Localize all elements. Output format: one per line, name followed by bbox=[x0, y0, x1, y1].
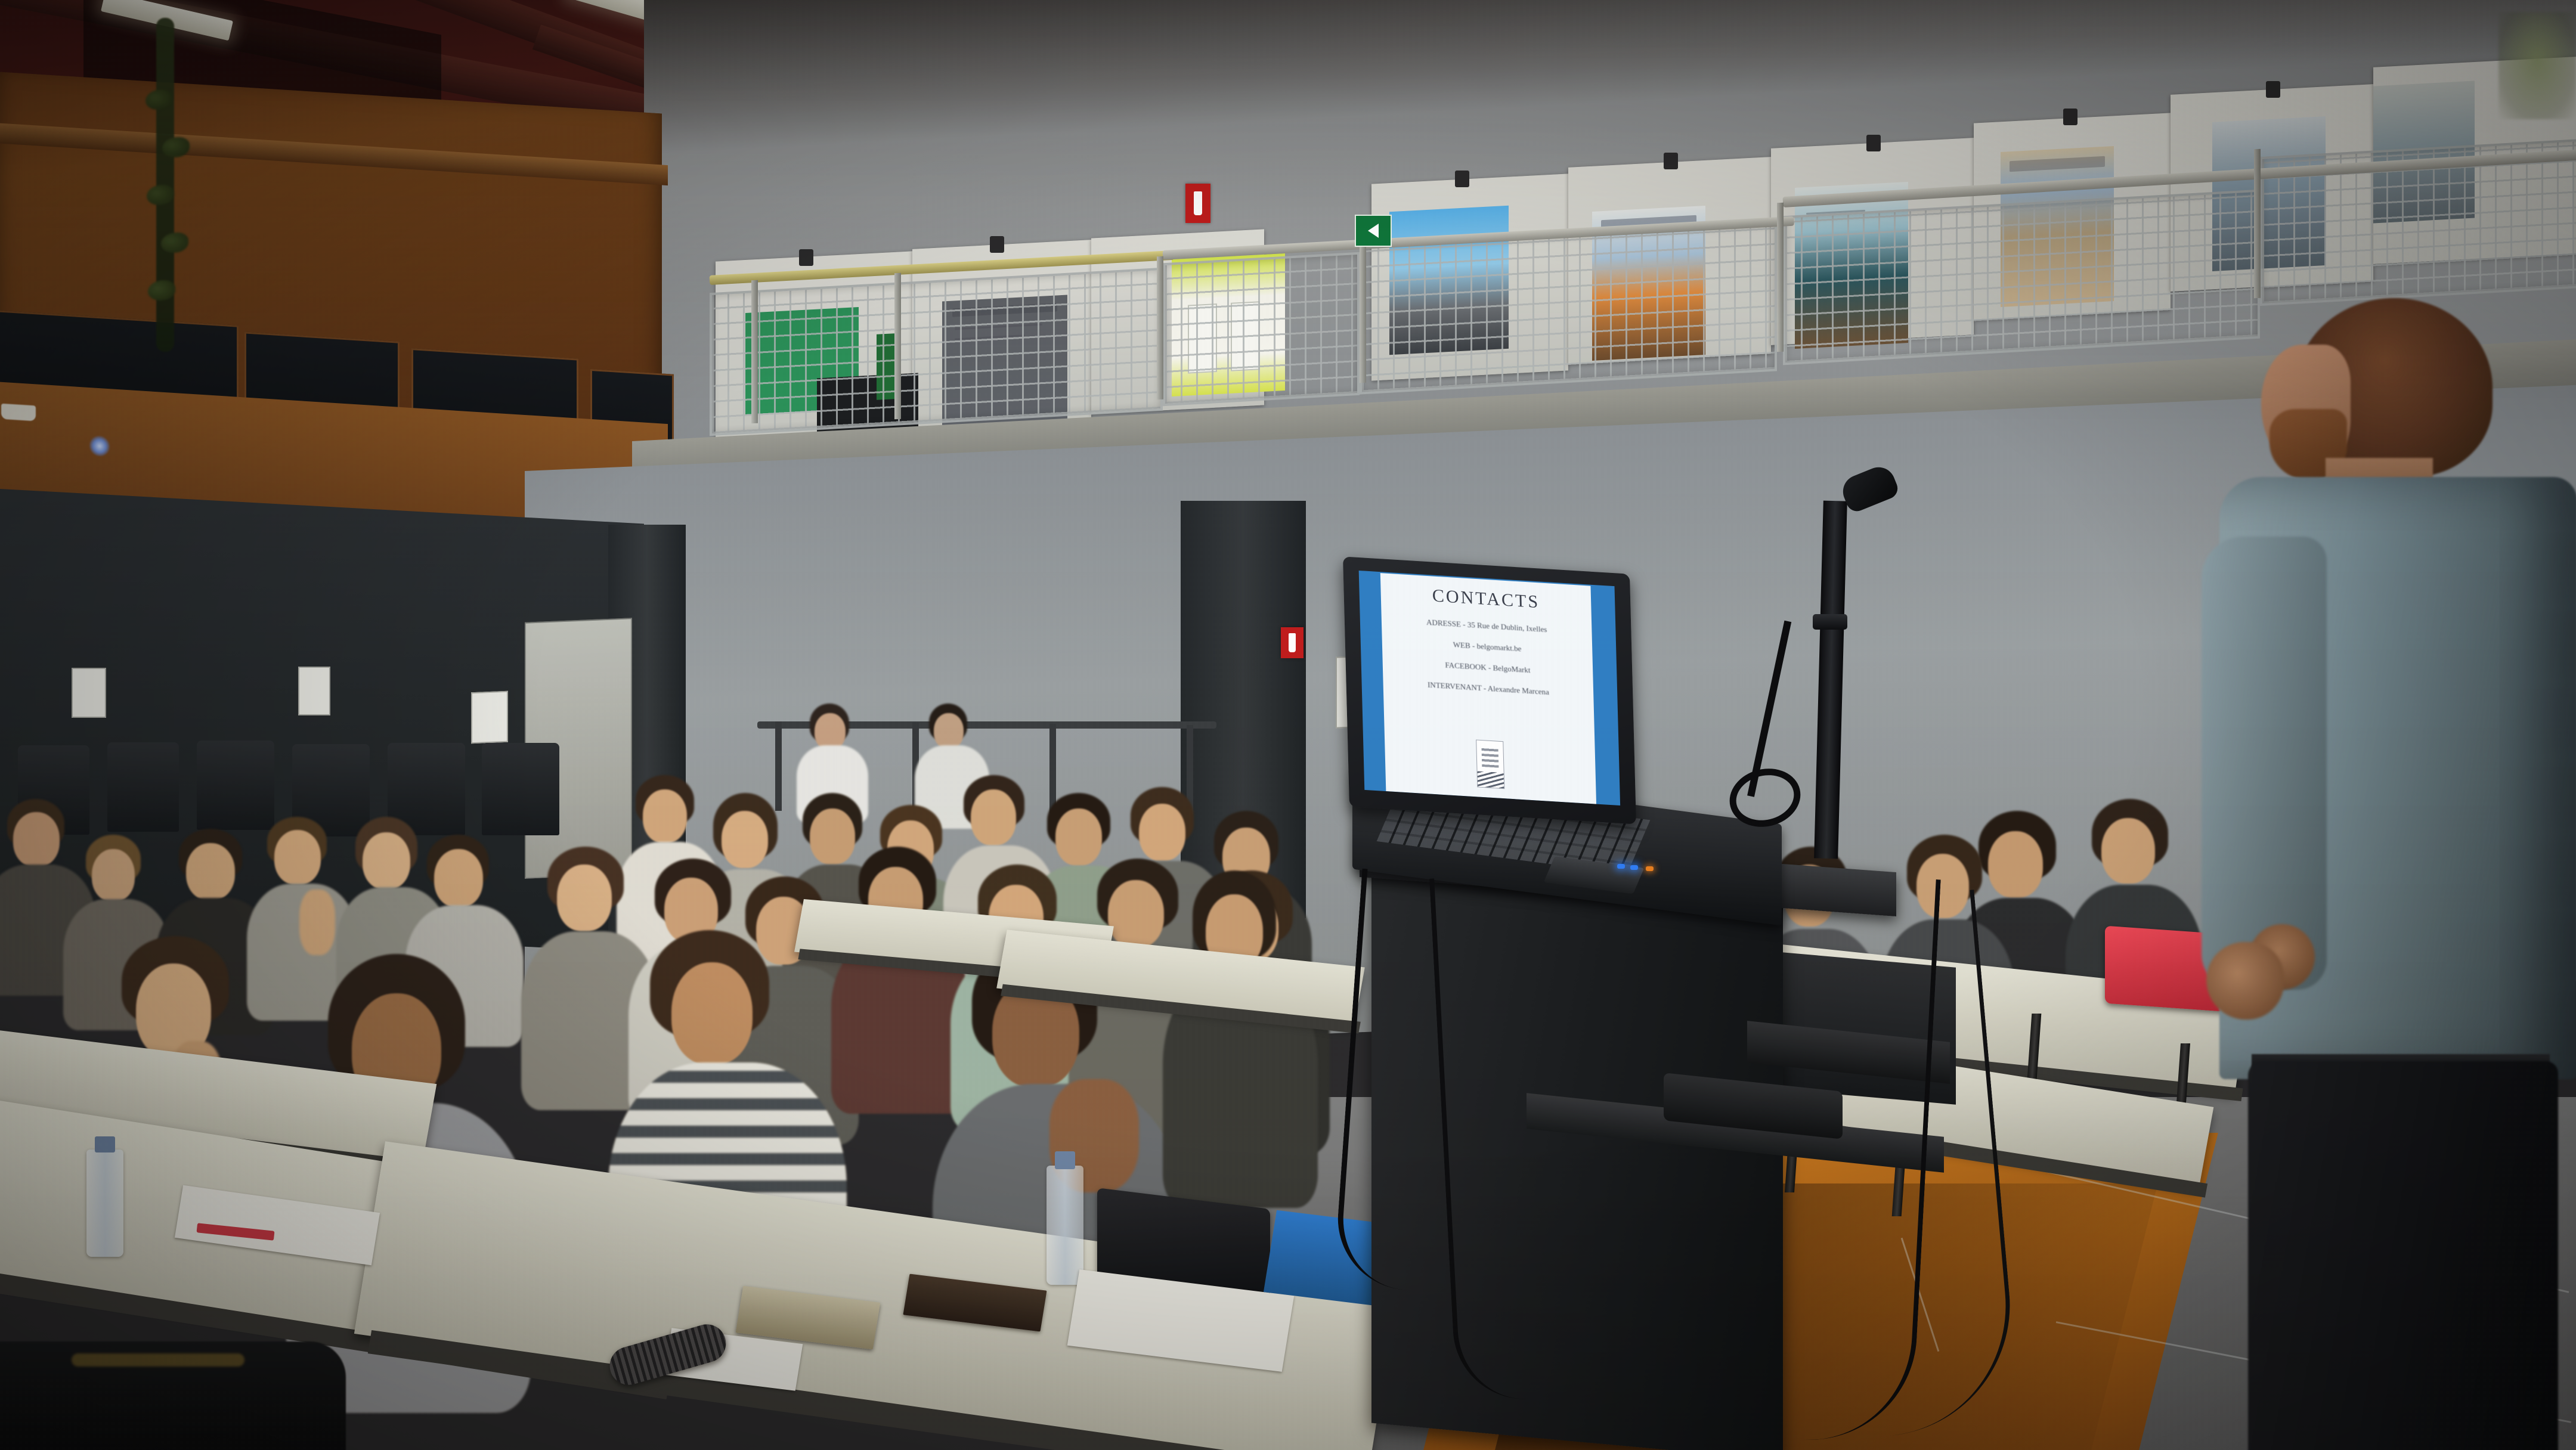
led-indicator-blue bbox=[1630, 865, 1638, 870]
balcony-rail bbox=[0, 123, 668, 185]
potted-plant bbox=[2498, 12, 2576, 119]
slide-title: CONTACTS bbox=[1432, 585, 1540, 612]
led-indicator-blue bbox=[1617, 864, 1625, 869]
slide-line-web: WEB - belgomarkt.be bbox=[1453, 640, 1522, 653]
water-bottle[interactable] bbox=[1046, 1166, 1083, 1285]
presenter-hand bbox=[2206, 942, 2284, 1020]
balcony-railing bbox=[710, 268, 1163, 436]
slide-line-facebook: FACEBOOK - BelgoMarkt bbox=[1445, 661, 1530, 676]
theater-seat bbox=[197, 741, 274, 830]
wall-notice bbox=[298, 667, 330, 715]
slide-line-speaker: INTERVENANT - Alexandre Marcena bbox=[1428, 680, 1549, 697]
laptop-lid: CONTACTS ADRESSE - 35 Rue de Dublin, Ixe… bbox=[1343, 556, 1636, 824]
white-cup bbox=[1, 404, 36, 422]
theater-seat bbox=[107, 742, 179, 832]
presenter-arm bbox=[2202, 537, 2327, 990]
slide-line-address: ADRESSE - 35 Rue de Dublin, Ixelles bbox=[1426, 618, 1547, 634]
theater-seat bbox=[482, 743, 559, 835]
balcony-railing bbox=[1360, 222, 1777, 394]
emergency-exit-sign bbox=[1355, 215, 1392, 247]
wall-notice bbox=[471, 691, 508, 744]
water-bottle[interactable] bbox=[86, 1150, 123, 1257]
fire-extinguisher-sign bbox=[1281, 627, 1304, 658]
belgomarkt-logo-icon bbox=[1476, 739, 1504, 789]
chair-highlight bbox=[72, 1353, 244, 1367]
fire-extinguisher-sign bbox=[1185, 184, 1210, 223]
wall-notice bbox=[72, 668, 106, 718]
balcony-railing bbox=[1163, 252, 1360, 406]
lecture-hall-photo: CONTACTS ADRESSE - 35 Rue de Dublin, Ixe… bbox=[0, 0, 2576, 1450]
hanging-vine bbox=[156, 18, 174, 352]
presenter bbox=[2111, 298, 2576, 1450]
presentation-slide: CONTACTS ADRESSE - 35 Rue de Dublin, Ixe… bbox=[1380, 573, 1596, 804]
laptop-screen: CONTACTS ADRESSE - 35 Rue de Dublin, Ixe… bbox=[1359, 571, 1620, 805]
led-indicator-orange bbox=[1646, 866, 1654, 871]
presenter-trousers bbox=[2248, 1061, 2558, 1450]
